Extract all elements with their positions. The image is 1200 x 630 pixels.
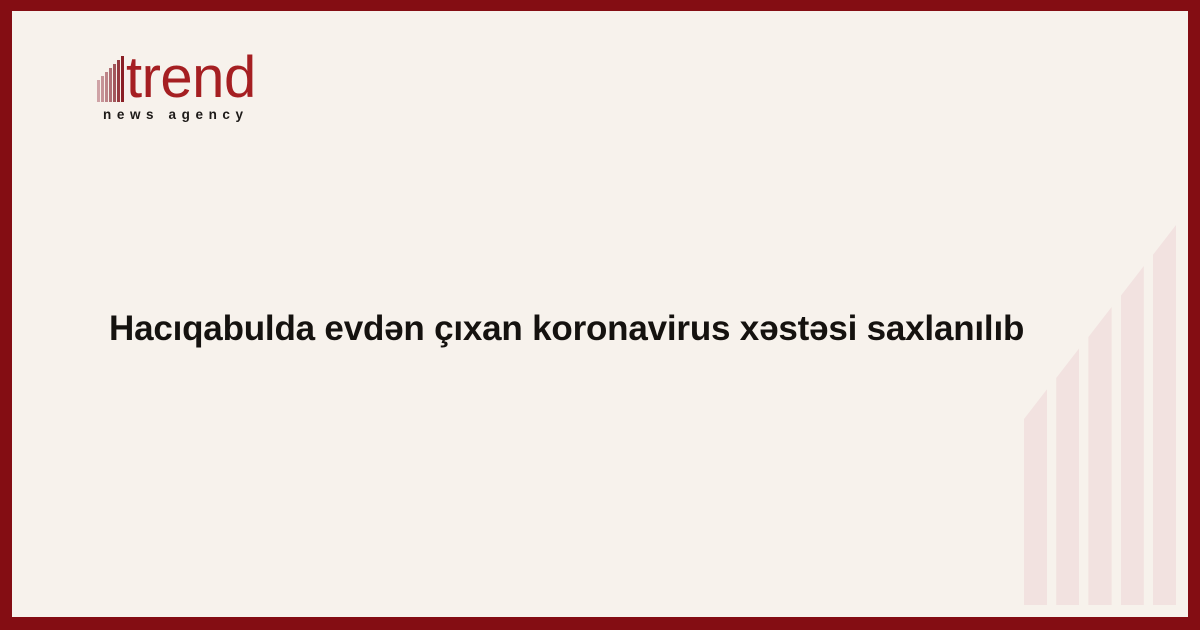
logo-bar (97, 80, 100, 102)
logo-bar (105, 72, 108, 102)
ascending-bars-icon (97, 58, 124, 102)
logo-wordmark: trend (126, 53, 256, 103)
logo-bar (117, 60, 120, 102)
logo-bar (113, 64, 116, 102)
ascending-bars-watermark-icon (1024, 177, 1176, 605)
watermark-bar (1153, 225, 1176, 605)
logo-bar (109, 68, 112, 102)
article-headline: Hacıqabulda evdən çıxan koronavirus xəst… (109, 307, 1119, 352)
article-share-card: trend news agency Hacıqabulda evdən çıxa… (0, 0, 1200, 630)
card-canvas: trend news agency Hacıqabulda evdən çıxa… (12, 11, 1188, 617)
watermark-bar (1121, 266, 1144, 605)
logo-lockup: trend (97, 45, 397, 103)
watermark-bar (1024, 389, 1047, 605)
trend-logo[interactable]: trend news agency (97, 45, 397, 122)
logo-bar (101, 76, 104, 102)
watermark-bar (1056, 348, 1079, 605)
logo-bar (121, 56, 124, 102)
